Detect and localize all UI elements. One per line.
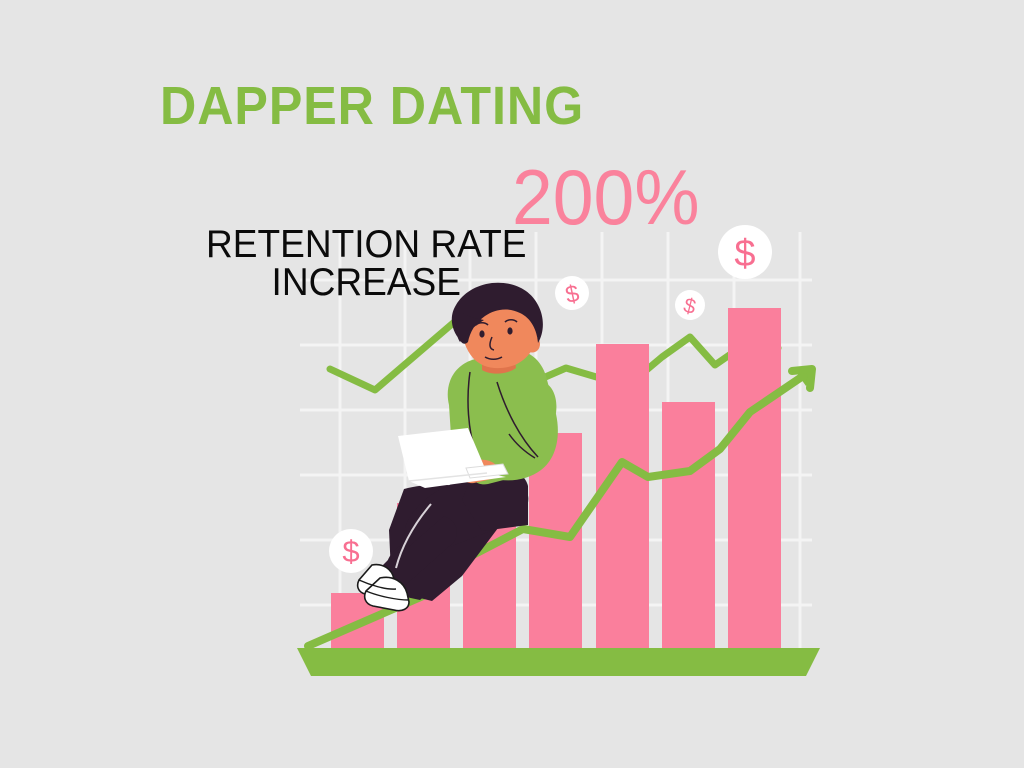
headline-subtitle: RETENTION RATE INCREASE <box>200 226 533 302</box>
headline-percent: 200% <box>512 158 700 236</box>
base-platform <box>297 648 820 676</box>
person-illustration <box>358 283 558 611</box>
coin-symbol: $ <box>342 534 359 569</box>
person-eye-left <box>479 330 484 337</box>
coin-small-left: $ <box>329 529 373 573</box>
bar-4 <box>596 344 649 648</box>
coin-small-right: $ <box>672 287 708 323</box>
bar-5 <box>662 402 715 648</box>
page-title: DAPPER DATING <box>160 79 584 133</box>
coin-symbol: $ <box>734 233 755 275</box>
infographic-canvas: $ $ $ $ DAPPER DATING 200% RETENTION RAT… <box>0 0 1024 768</box>
subtitle-line-1: RETENTION RATE <box>200 226 533 264</box>
zigzag-line <box>330 312 778 390</box>
bar-6 <box>728 308 781 648</box>
person-eye-right <box>507 327 512 334</box>
coin-large: $ <box>718 225 772 279</box>
subtitle-line-2: INCREASE <box>200 264 533 302</box>
